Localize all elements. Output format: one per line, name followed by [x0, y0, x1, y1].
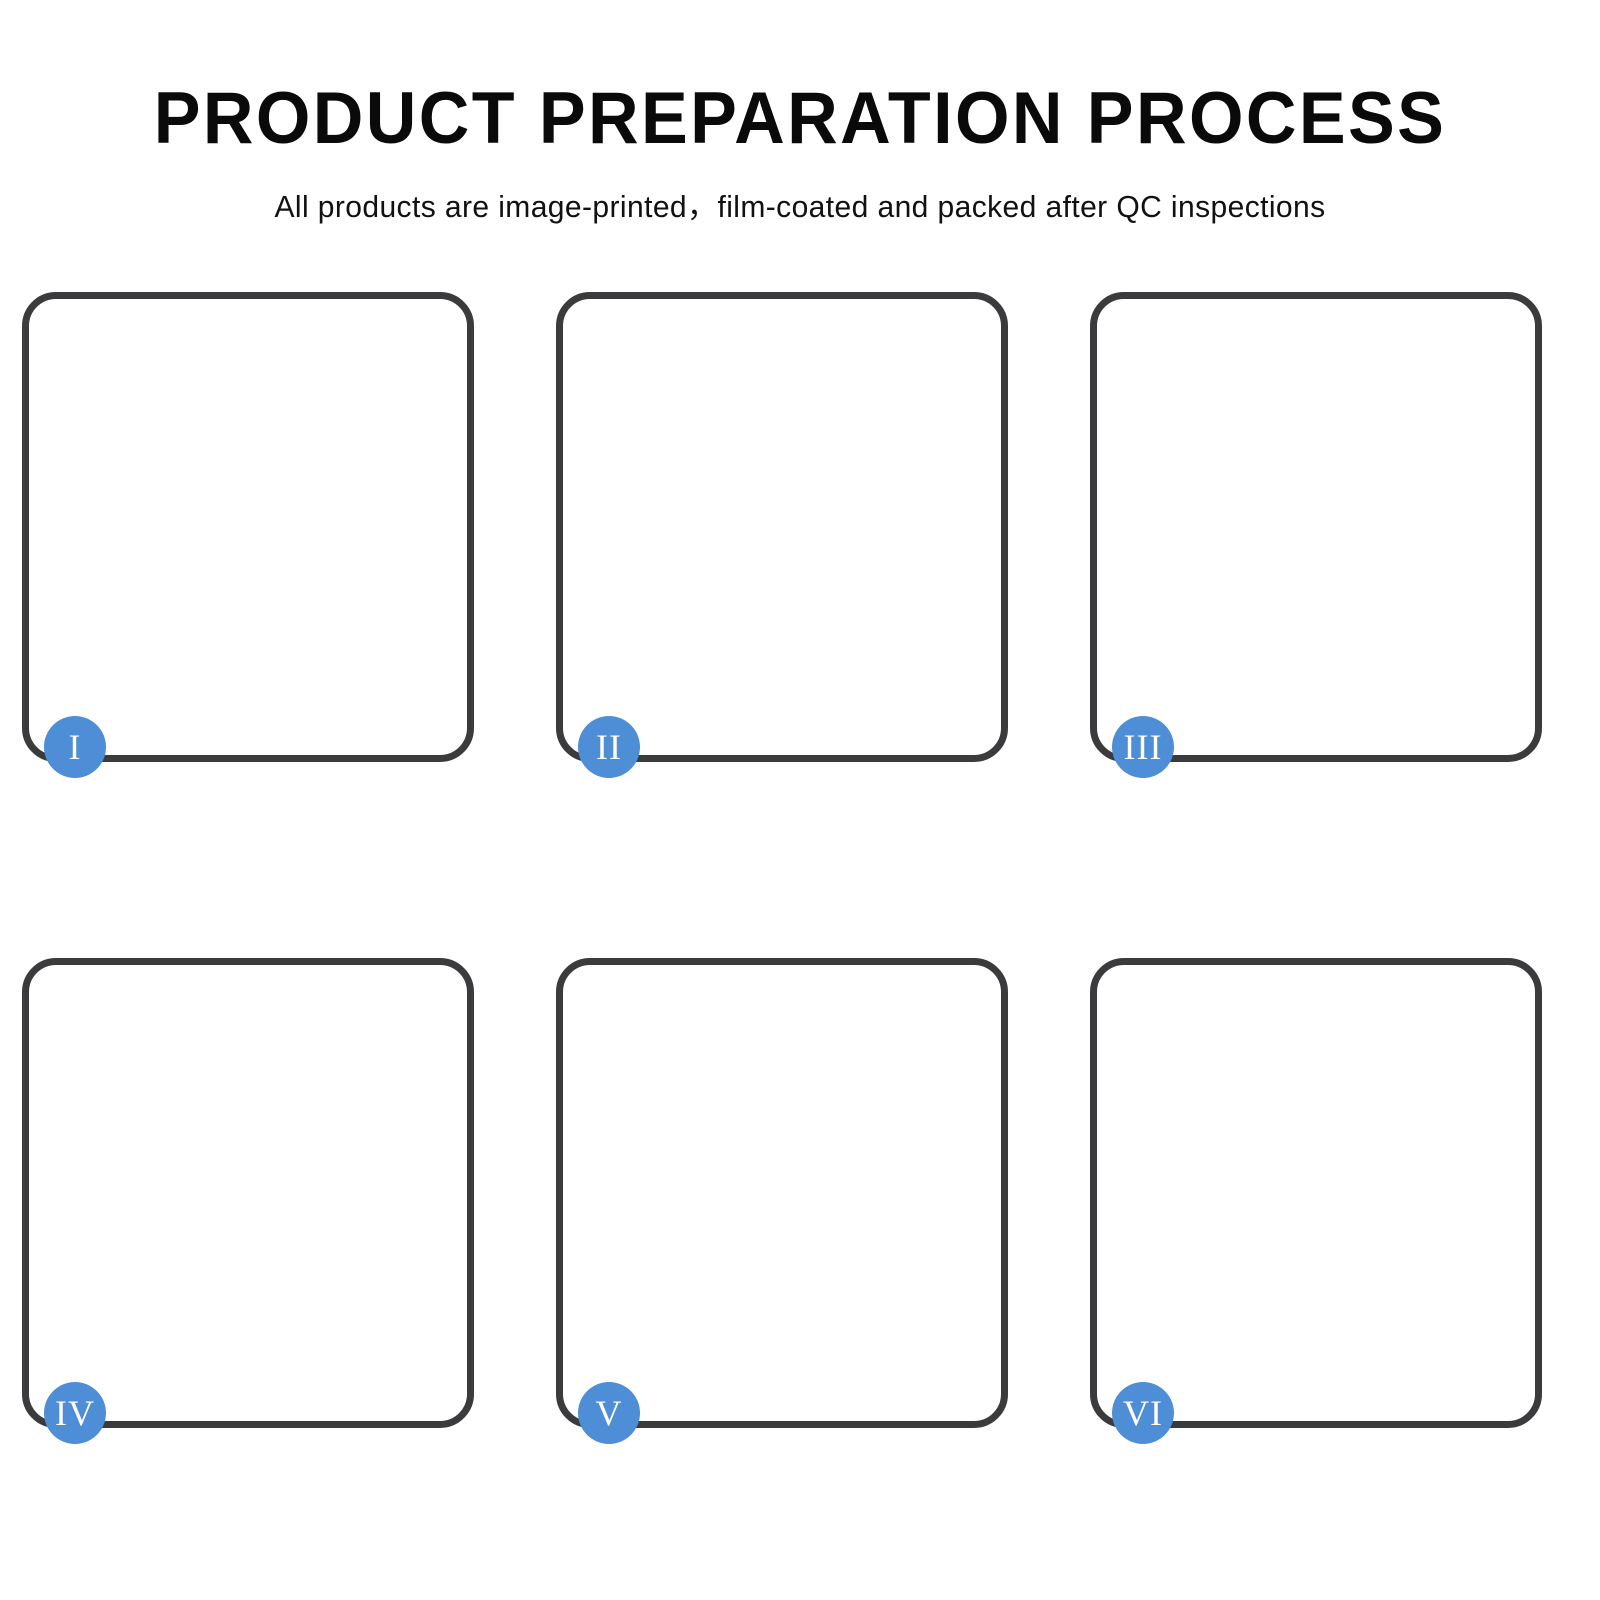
process-step-3[interactable]: III	[1090, 292, 1542, 762]
box-product-photo	[175, 1028, 209, 1088]
box-product-photo	[228, 1013, 262, 1075]
checkbox-icon	[358, 1111, 366, 1120]
page-title: PRODUCT PREPARATION PROCESS	[32, 82, 1568, 155]
checkbox-icon	[270, 1060, 277, 1067]
crack-line	[60, 686, 97, 704]
front-glass-panel	[180, 388, 266, 548]
checkbox-icon	[270, 1040, 277, 1047]
process-step-2[interactable]: II	[556, 292, 1008, 762]
styrofoam-lid	[690, 1011, 924, 1157]
checkbox-icon	[270, 1020, 277, 1027]
crack-line	[119, 618, 144, 656]
process-step-4[interactable]: Mobile Phone Spare Parts LCD Digitizer	[22, 958, 474, 1428]
step-badge-3: III	[1112, 716, 1174, 778]
checkbox-icon	[358, 1099, 366, 1108]
checkbox-icon	[358, 1122, 366, 1131]
step-badge-2: II	[578, 716, 640, 778]
glass-earpiece-cutout	[206, 396, 240, 404]
crack-line	[75, 611, 131, 659]
stacked-box	[86, 1306, 468, 1342]
taptic-engine-part	[256, 722, 302, 748]
qc-label-sticker	[718, 342, 740, 356]
lid-tab	[1316, 321, 1374, 333]
mailer-bottom-notch	[1290, 680, 1346, 686]
coil-connector	[222, 612, 234, 622]
mailer-front-lip	[1154, 568, 1526, 582]
step-1-photo: 06 08 Tue 24 Mar	[28, 298, 468, 756]
mailer-lid-flap	[1154, 328, 1522, 432]
retail-boxes-row	[798, 1156, 914, 1248]
flex-cable-part	[244, 616, 278, 624]
header: PRODUCT PREPARATION PROCESS All products…	[0, 0, 1600, 226]
checkbox-icon	[270, 1050, 277, 1057]
box-product-photo	[249, 1100, 287, 1167]
bubble-highlight-texture	[680, 298, 902, 756]
process-step-5[interactable]: V	[556, 958, 1008, 1428]
process-steps-grid: 06 08 Tue 24 Mar	[22, 292, 1578, 1428]
retail-box-stack: Mobile Phone Spare Parts LCD Digitizer	[28, 974, 468, 1422]
camera-lens	[443, 685, 468, 721]
step-badge-1: I	[44, 716, 106, 778]
mailer-left-edge	[1154, 574, 1165, 682]
box-checklist: LCD Digitizer Touch Panel Front Glass	[270, 999, 376, 1074]
step-badge-6: VI	[1112, 1382, 1174, 1444]
checkbox-icon	[358, 1134, 366, 1143]
box-product-photo	[311, 1082, 349, 1151]
screen-notch	[323, 369, 339, 376]
wireless-charging-coil	[208, 570, 250, 612]
infographic-page: PRODUCT PREPARATION PROCESS All products…	[0, 0, 1600, 1600]
page-subtitle: All products are image-printed，film-coat…	[12, 182, 1588, 226]
process-step-6[interactable]: VI	[1090, 958, 1542, 1428]
step-badge-4: IV	[44, 1382, 106, 1444]
checkbox-icon	[270, 1071, 277, 1078]
foam-bubble-padding	[1184, 574, 1502, 636]
mailer-front-panel	[1154, 636, 1526, 686]
bubble-wrap-bag	[680, 298, 902, 756]
step-badge-5: V	[578, 1382, 640, 1444]
carton-body	[680, 1272, 930, 1392]
stacked-box	[86, 1258, 468, 1294]
crack-line	[130, 658, 160, 660]
sim-tray-part	[206, 710, 224, 736]
battery-compartment	[326, 669, 439, 756]
step-4-photo: Mobile Phone Spare Parts LCD Digitizer	[28, 964, 468, 1422]
step-6-photo	[1096, 964, 1536, 1422]
process-step-1[interactable]: 06 08 Tue 24 Mar	[22, 292, 474, 762]
checkbox-icon	[270, 1030, 277, 1037]
box-checklist: LCD Digitizer Touch Panel Front Glass	[358, 1065, 468, 1150]
checkbox-icon	[358, 1146, 366, 1155]
step-5-photo	[562, 964, 1002, 1422]
step-2-photo	[562, 298, 1002, 756]
step-3-photo	[1096, 298, 1536, 756]
mailer-inner-back-wall	[1174, 426, 1506, 576]
checkbox-icon	[358, 1088, 366, 1097]
screen-assembly-group: 06 08 Tue 24 Mar	[156, 346, 456, 566]
stacked-box	[86, 1354, 468, 1390]
